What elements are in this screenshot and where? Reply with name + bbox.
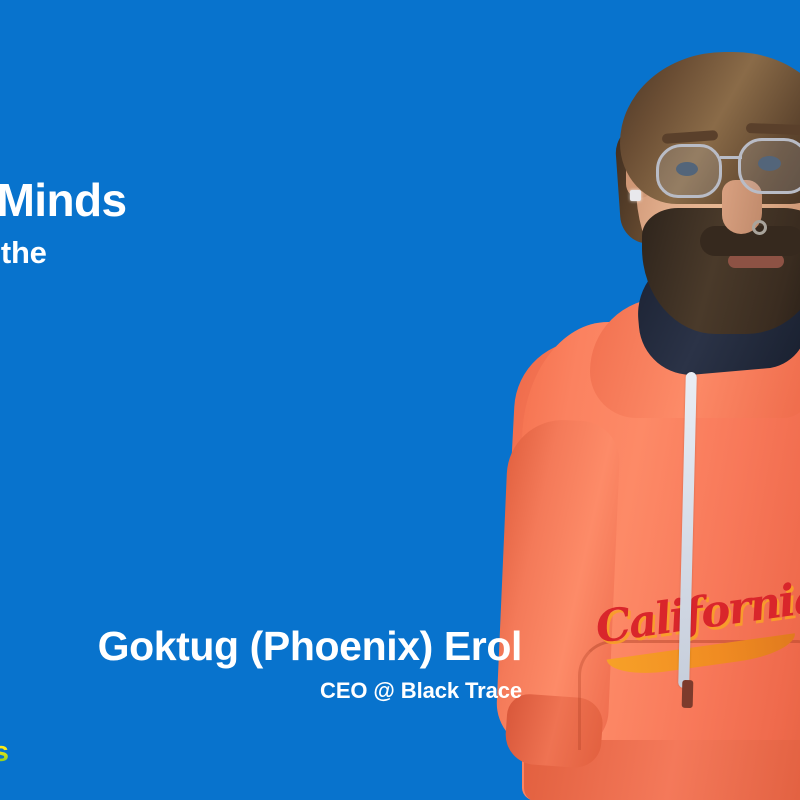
eyebrow-right xyxy=(746,123,800,135)
glasses-lens-left xyxy=(656,144,722,198)
glasses-lens-right xyxy=(738,138,800,194)
speaker-role: CEO @ Black Trace xyxy=(0,678,522,704)
page-subtitle: ed Team before the xyxy=(0,236,470,270)
earring-icon xyxy=(630,190,641,201)
nose-ring-icon xyxy=(752,220,767,235)
speaker-name: Goktug (Phoenix) Erol xyxy=(0,626,522,667)
hoodie-drawstring-tip xyxy=(682,680,694,708)
promo-slide: California Corporate Minds ed Team befor… xyxy=(0,0,800,800)
lips xyxy=(728,254,784,268)
brand-logo: alks xyxy=(0,736,8,769)
headline-block: Corporate Minds ed Team before the xyxy=(0,176,470,270)
glasses-bridge xyxy=(720,156,742,159)
page-title: Corporate Minds xyxy=(0,176,470,226)
speaker-info: Goktug (Phoenix) Erol CEO @ Black Trace xyxy=(0,626,522,704)
